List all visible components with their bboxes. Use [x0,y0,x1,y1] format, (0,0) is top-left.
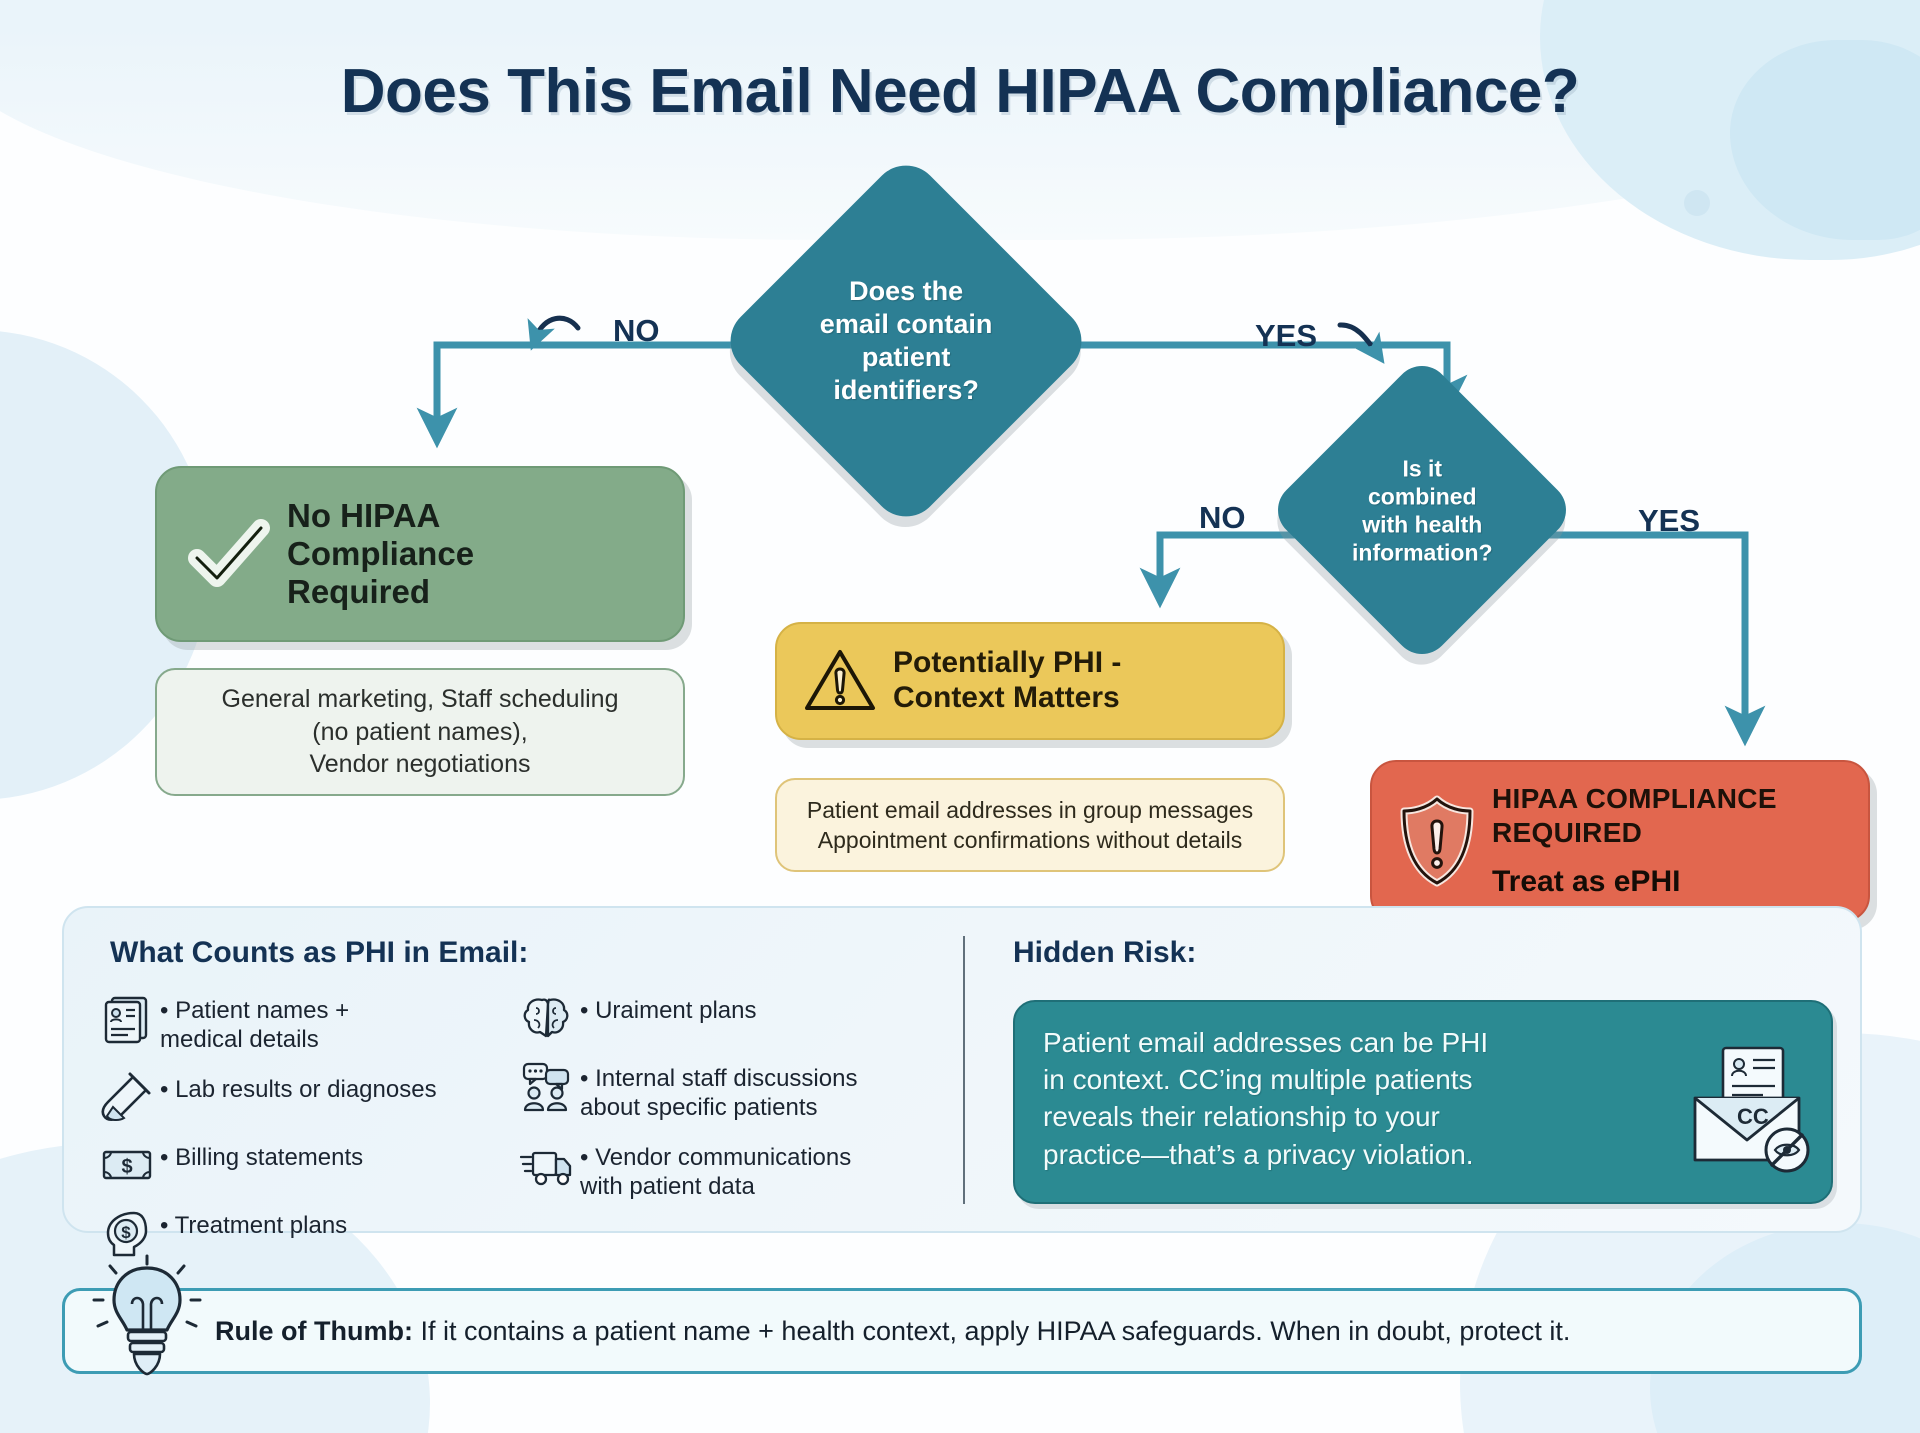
svg-text:$: $ [121,1156,132,1178]
hidden-risk-text: Patient email addresses can be PHI in co… [1043,1024,1681,1173]
list-item: $ Treatment plans [100,1207,520,1259]
phi-item-label: Uraiment plans [580,992,756,1025]
green-outcome-text: No HIPAA Compliance Required [287,497,474,612]
green-examples-text: General marketing, Staff scheduling (no … [222,683,619,781]
outcome-potentially-phi[interactable]: Potentially PHI - Context Matters [775,622,1285,740]
cc-envelope-no-privacy-icon: CC [1681,1038,1817,1178]
edge-label-no-2: NO [1199,500,1246,536]
rule-of-thumb-text: Rule of Thumb: If it contains a patient … [215,1316,1570,1347]
rule-of-thumb-body: If it contains a patient name + health c… [413,1316,1570,1346]
edge-label-no-1: NO [613,313,660,349]
yellow-outcome-text: Potentially PHI - Context Matters [893,646,1121,716]
phi-item-label: Patient names + medical details [160,992,349,1055]
banknote-icon: $ [100,1139,154,1191]
outcome-no-hipaa-required[interactable]: No HIPAA Compliance Required [155,466,685,642]
phi-item-label: Treatment plans [160,1207,347,1240]
delivery-truck-icon [520,1139,574,1191]
brain-icon [520,992,574,1044]
edge-label-yes-2: YES [1638,503,1700,539]
yellow-outcome-examples: Patient email addresses in group message… [775,778,1285,872]
phi-section-heading: What Counts as PHI in Email: [110,936,528,970]
hidden-risk-box: Patient email addresses can be PHI in co… [1013,1000,1833,1204]
panel-divider [963,936,965,1204]
list-item: Internal staff discussions about specifi… [520,1060,950,1123]
list-item: $ Billing statements [100,1139,520,1191]
phi-list-column-b: Uraiment plans Internal staff discussion… [520,992,950,1217]
red-outcome-line2: Treat as ePHI [1492,864,1777,900]
list-item: Lab results or diagnoses [100,1071,520,1123]
list-item: Uraiment plans [520,992,950,1044]
phi-item-label: Billing statements [160,1139,363,1172]
decision-2-label: Is it combined with health information? [1315,454,1530,566]
head-dollar-icon: $ [100,1207,154,1259]
phi-item-label: Vendor communications with patient data [580,1139,851,1202]
phi-item-label: Lab results or diagnoses [160,1071,437,1104]
test-tube-icon [100,1071,154,1123]
svg-text:$: $ [121,1223,131,1242]
decision-1-label: Does the email contain patient identifie… [776,275,1036,407]
page-title: Does This Email Need HIPAA Compliance? [0,56,1920,127]
yellow-examples-text: Patient email addresses in group message… [807,795,1253,856]
list-item: Patient names + medical details [100,992,520,1055]
infographic-canvas: Does This Email Need HIPAA Compliance? N… [0,0,1920,1433]
phi-list-column-a: Patient names + medical details Lab resu… [100,992,520,1275]
decorative-dot [1684,190,1710,216]
checkmark-icon [183,510,275,598]
outcome-hipaa-required[interactable]: HIPAA COMPLIANCE REQUIRED Treat as ePHI [1370,760,1870,922]
rule-of-thumb-bar: Rule of Thumb: If it contains a patient … [62,1288,1862,1374]
svg-text:CC: CC [1737,1104,1769,1129]
hidden-risk-heading: Hidden Risk: [1013,936,1196,970]
phi-item-label: Internal staff discussions about specifi… [580,1060,857,1123]
green-outcome-examples: General marketing, Staff scheduling (no … [155,668,685,796]
shield-alert-icon [1394,793,1480,889]
lightbulb-icon [88,1254,206,1382]
red-outcome-text: HIPAA COMPLIANCE REQUIRED Treat as ePHI [1492,782,1777,899]
rule-of-thumb-prefix: Rule of Thumb: [215,1316,413,1346]
staff-chat-icon [520,1060,574,1112]
list-item: Vendor communications with patient data [520,1139,950,1202]
warning-triangle-icon [801,645,879,717]
red-outcome-line1: HIPAA COMPLIANCE REQUIRED [1492,782,1777,849]
id-card-icon [100,992,154,1044]
edge-label-yes-1: YES [1255,318,1317,354]
